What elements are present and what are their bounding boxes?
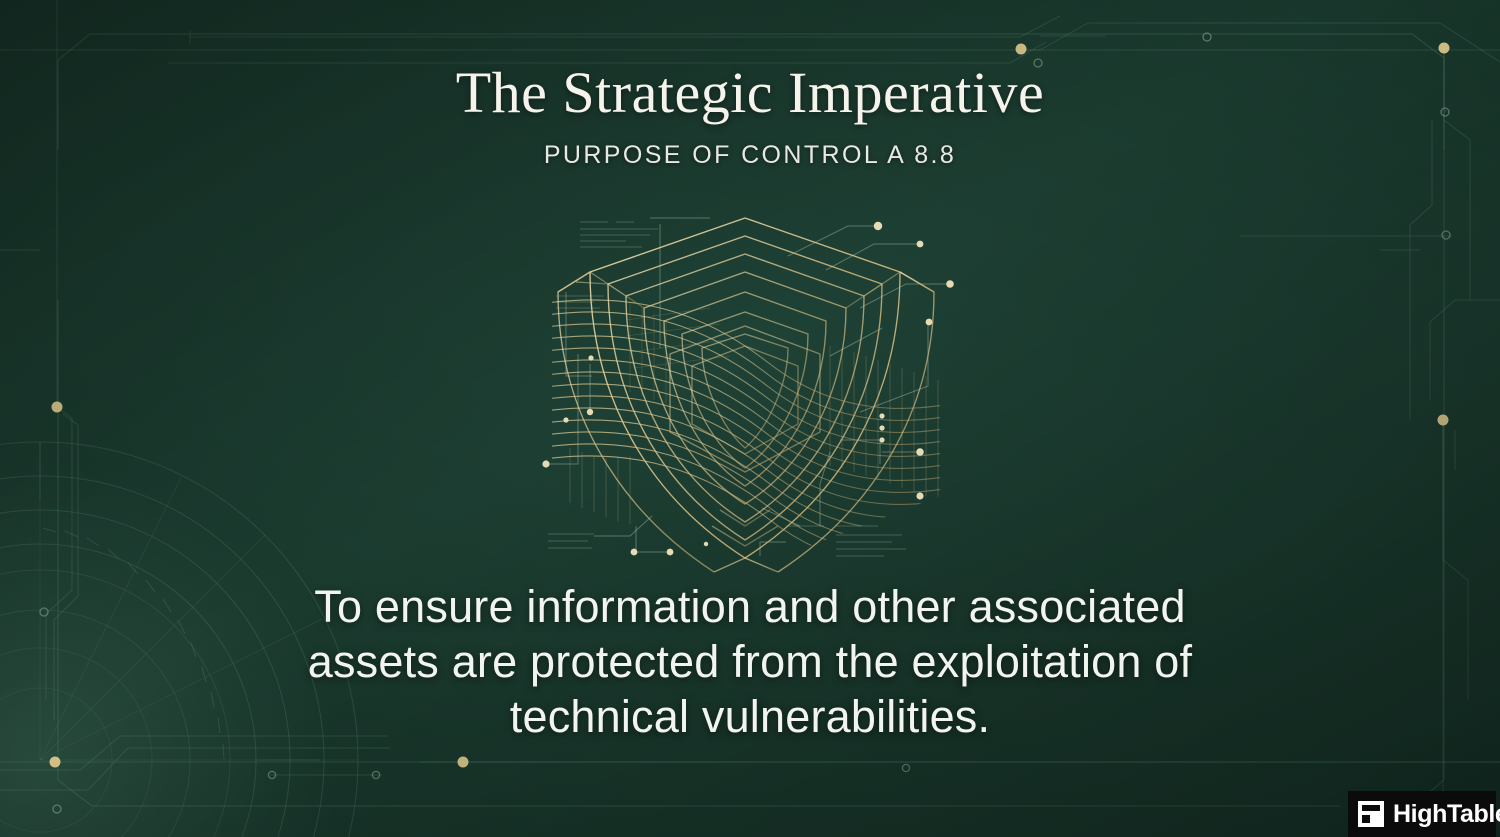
- body-statement: To ensure information and other associat…: [245, 580, 1255, 745]
- hightable-glyph-icon: [1357, 800, 1385, 828]
- title-block: The Strategic Imperative PURPOSE OF CONT…: [0, 62, 1500, 170]
- slide-canvas: The Strategic Imperative PURPOSE OF CONT…: [0, 0, 1500, 837]
- layered-wireframe-shield-illustration: [530, 196, 970, 586]
- right-edge-traces: [1240, 236, 1500, 837]
- body-block: To ensure information and other associat…: [245, 580, 1255, 745]
- page-subtitle: PURPOSE OF CONTROL A 8.8: [0, 141, 1500, 170]
- logo-wordmark: HighTable®: [1393, 802, 1500, 827]
- page-title: The Strategic Imperative: [0, 62, 1500, 125]
- hightable-logo: HighTable®: [1348, 791, 1496, 837]
- logo-wordmark-text: HighTable: [1393, 800, 1500, 828]
- blueprint-annotation-lines: [548, 222, 906, 556]
- shield-node-dots: [542, 222, 953, 556]
